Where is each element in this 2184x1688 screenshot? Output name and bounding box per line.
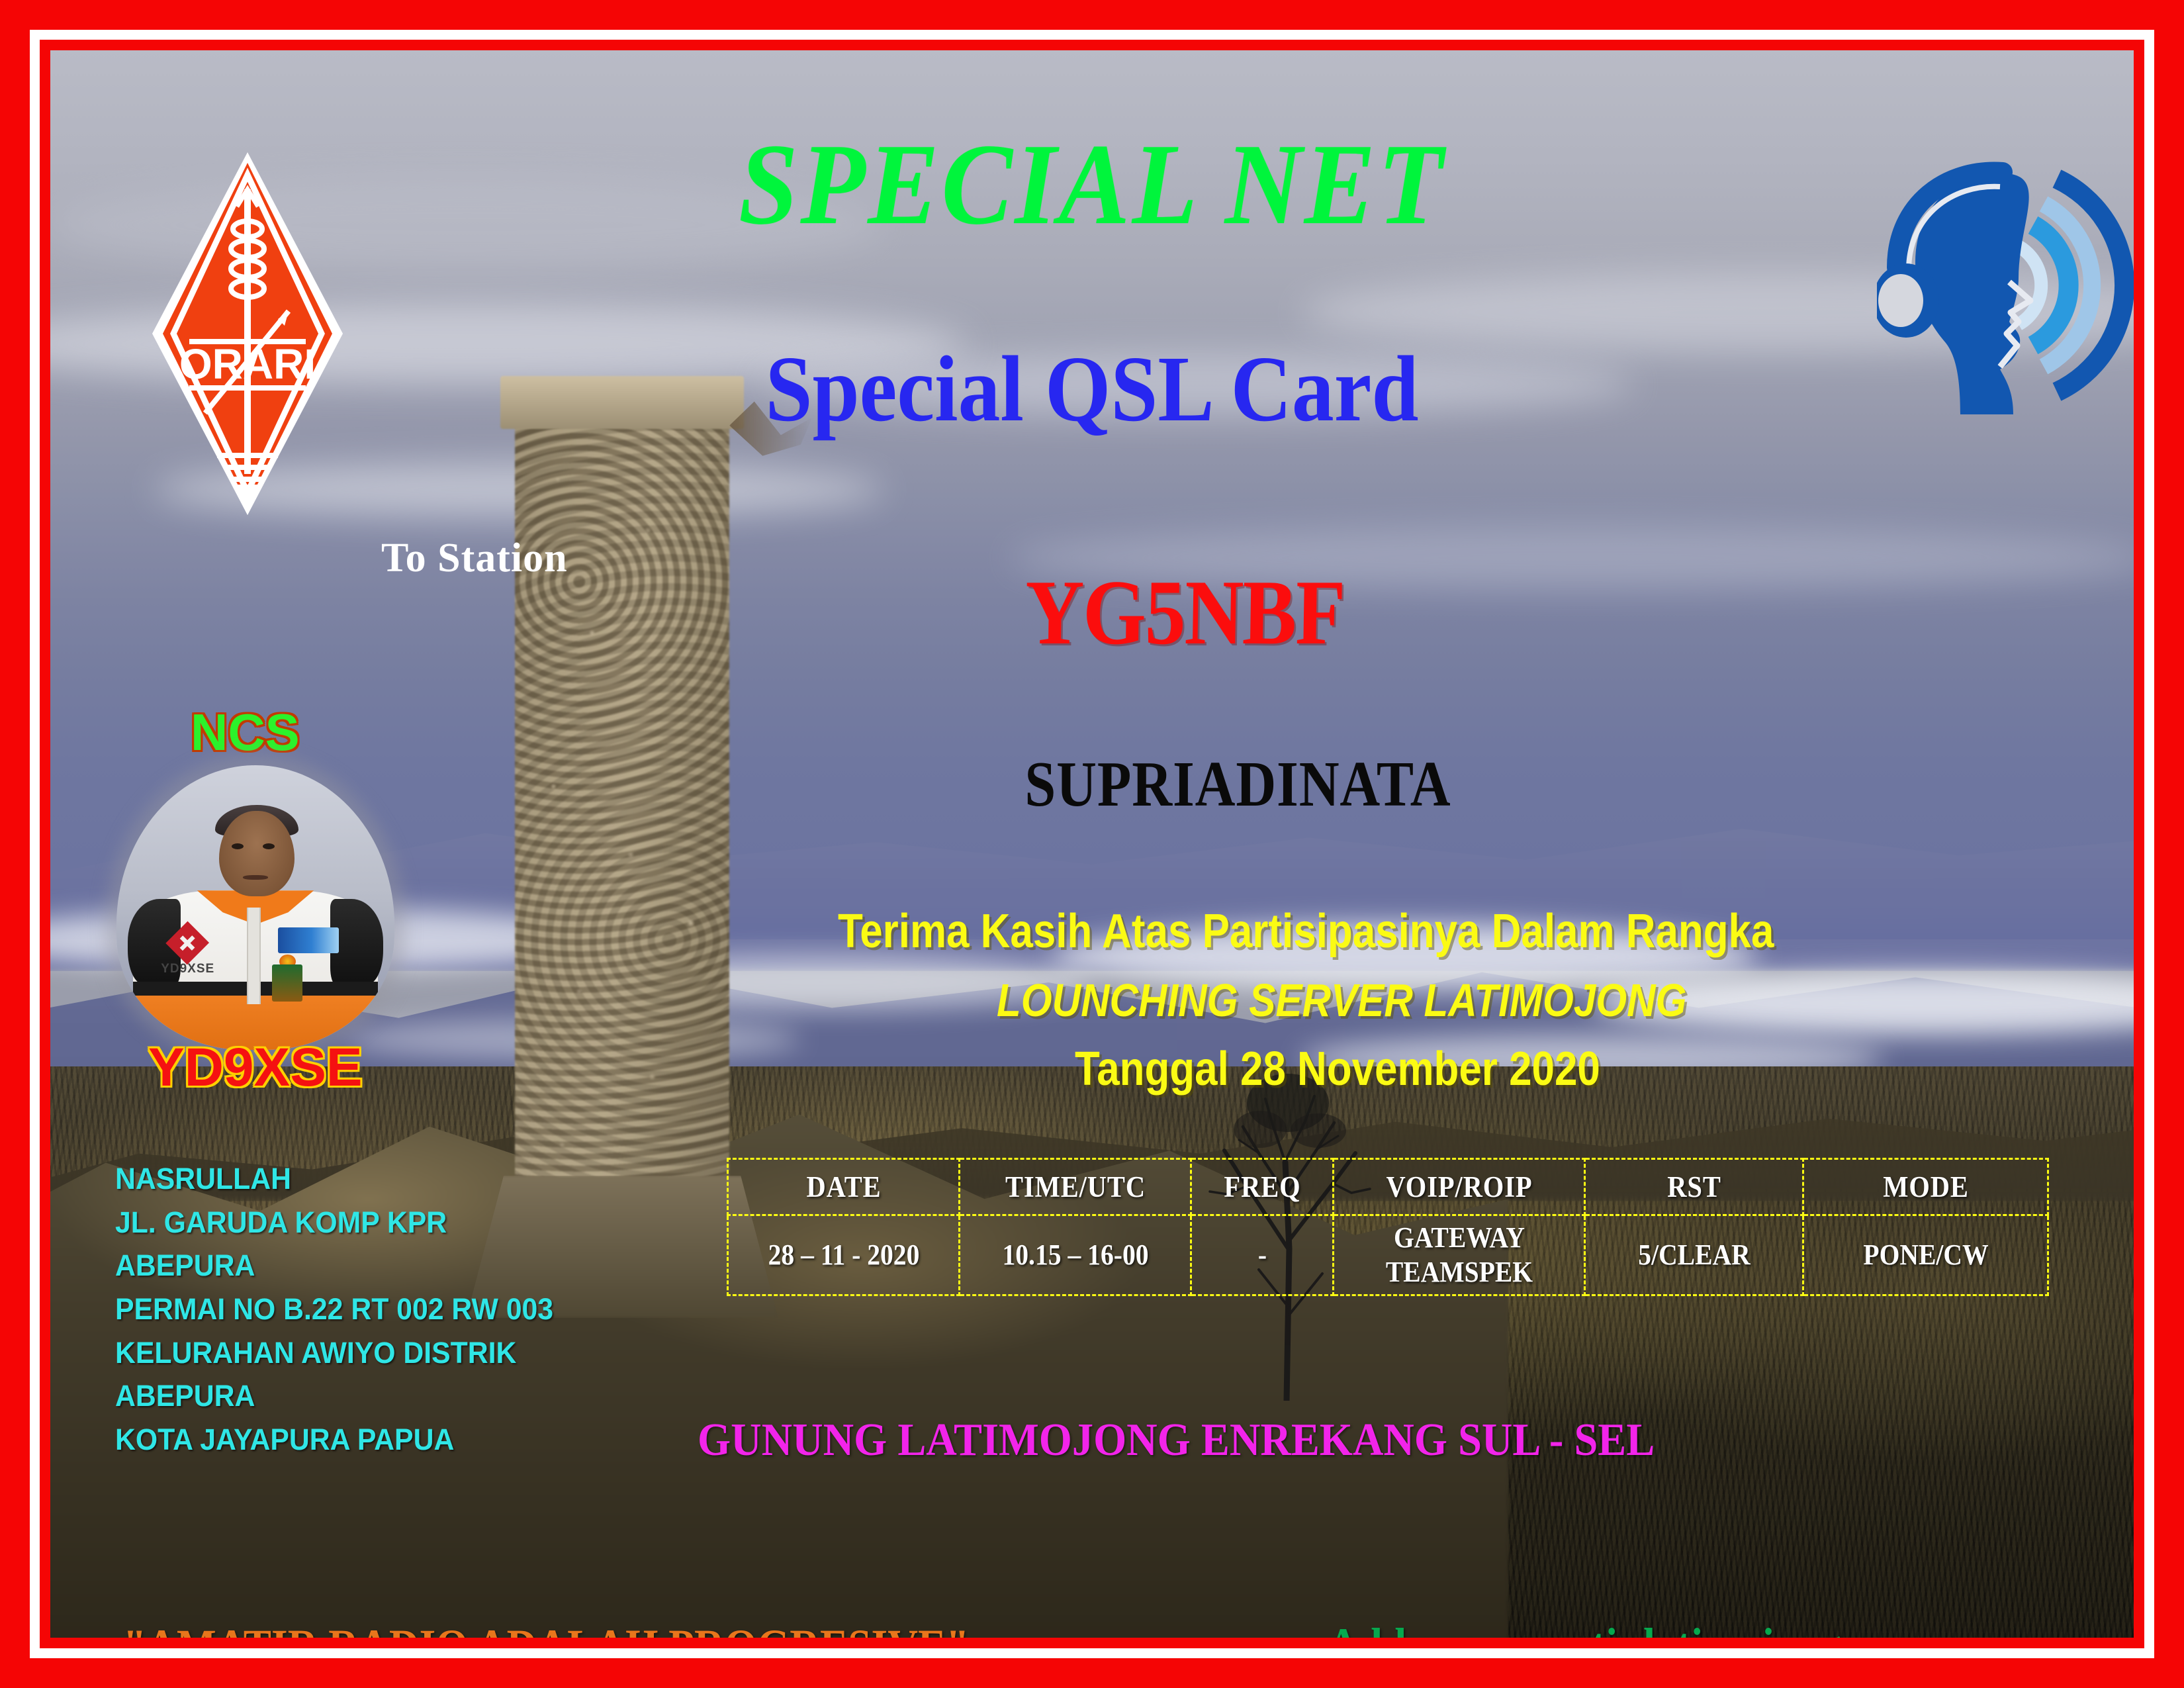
photo-id-badge: [272, 964, 302, 1002]
thanks-line-2: LOUNCHING SERVER LATIMOJONG: [997, 974, 1686, 1027]
table-row: 28 – 11 - 2020 10.15 – 16-00 - GATEWAY T…: [728, 1215, 2048, 1295]
address-line: PERMAI NO B.22 RT 002 RW 003: [115, 1288, 553, 1331]
cell-voip-line2: TEAMSPEK: [1347, 1255, 1571, 1289]
operator-name: SUPRIADINATA: [1024, 752, 1451, 817]
ncs-callsign: YD9XSE: [148, 1037, 363, 1099]
page-subtitle: Special QSL Card: [154, 342, 2029, 436]
address-line: KOTA JAYAPURA PAPUA: [115, 1418, 553, 1462]
cell-time: 10.15 – 16-00: [971, 1215, 1179, 1295]
address-line: ABEPURA: [115, 1244, 553, 1288]
cell-voip: GATEWAY TEAMSPEK: [1346, 1215, 1572, 1295]
photo-shirt-callsign: YD9XSE: [161, 962, 214, 976]
to-station-label: To Station: [381, 535, 568, 582]
ncs-label: NCS: [191, 702, 300, 763]
table-header-time: TIME/UTC: [971, 1159, 1179, 1215]
ncs-operator-photo: YD9XSE: [116, 765, 394, 1050]
qsl-card: ORARI SPECIAL NET Special: [0, 0, 2184, 1688]
table-header-freq: FREQ: [1198, 1159, 1326, 1215]
cell-voip-line1: GATEWAY: [1347, 1221, 1571, 1255]
cell-freq: -: [1198, 1215, 1326, 1295]
footer-motto: "AMATIR RADIO ADALAH PROGRESIVE": [123, 1619, 969, 1638]
footer-web-address: Address : amatir.latimojong.com: [1328, 1618, 1928, 1638]
thanks-line-1: Terima Kasih Atas Partisipasinya Dalam R…: [838, 904, 1774, 959]
table-header-row: DATE TIME/UTC FREQ VOIP/ROIP RST MODE: [728, 1159, 2048, 1215]
table-header-voip: VOIP/ROIP: [1346, 1159, 1572, 1215]
cell-mode: PONE/CW: [1815, 1215, 2036, 1295]
station-callsign: YG5NBF: [1024, 567, 1345, 659]
photo-eye-right: [263, 843, 275, 849]
qso-log-table: DATE TIME/UTC FREQ VOIP/ROIP RST MODE 28…: [727, 1158, 2049, 1296]
stone-pillar-monument: [500, 376, 744, 1265]
table-header-rst: RST: [1596, 1159, 1792, 1215]
photo-mouth: [243, 875, 268, 880]
address-line: JL. GARUDA KOMP KPR: [115, 1201, 553, 1244]
card-photo-background: ORARI SPECIAL NET Special: [50, 50, 2134, 1638]
page-title: SPECIAL NET: [134, 126, 2050, 242]
table-header-date: DATE: [739, 1159, 948, 1215]
cell-date: 28 – 11 - 2020: [739, 1215, 948, 1295]
location-line: GUNUNG LATIMOJONG ENREKANG SUL - SEL: [698, 1414, 1655, 1467]
station-address-block: NASRULLAH JL. GARUDA KOMP KPR ABEPURA PE…: [115, 1157, 553, 1462]
address-line: ABEPURA: [115, 1374, 553, 1418]
address-line: KELURAHAN AWIYO DISTRIK: [115, 1331, 553, 1375]
photo-shirt-placket: [247, 908, 261, 1004]
table-header-mode: MODE: [1815, 1159, 2036, 1215]
photo-shirt-logo-patch: [278, 927, 339, 953]
photo-head: [219, 811, 294, 896]
cell-rst: 5/CLEAR: [1596, 1215, 1792, 1295]
address-line: NASRULLAH: [115, 1157, 553, 1201]
thanks-line-3: Tanggal 28 November 2020: [1075, 1042, 1600, 1096]
